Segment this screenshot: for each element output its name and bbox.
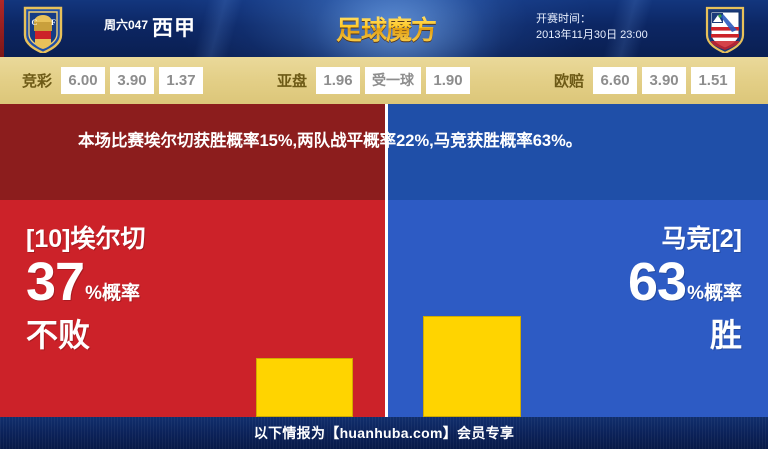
away-outcome-label: 胜 xyxy=(628,316,742,354)
header-bar: C F 周六047西甲 足球魔方 开赛时间： 2013年11月30日 23:00 xyxy=(0,0,768,57)
odds-label-oupei: 欧赔 xyxy=(554,70,584,91)
away-team-block: 马竞[2] 63 %概率 胜 xyxy=(628,224,742,354)
home-percent-value: 37 xyxy=(26,256,84,308)
probability-chart: [10]埃尔切 37 %概率 不败 马竞[2] 63 %概率 胜 xyxy=(0,200,768,417)
odds-oupei-away[interactable]: 1.51 xyxy=(691,67,735,94)
kickoff-label: 开赛时间： xyxy=(536,11,648,27)
odds-yapan-away[interactable]: 1.90 xyxy=(426,67,470,94)
odds-jingcai-draw[interactable]: 3.90 xyxy=(110,67,154,94)
elche-cf-crest-icon: C F xyxy=(22,5,64,53)
bar-home-probability xyxy=(256,358,353,417)
odds-yapan-handicap[interactable]: 受一球 xyxy=(365,67,421,94)
panel-home-team: [10]埃尔切 37 %概率 不败 xyxy=(0,200,385,417)
brand-logo[interactable]: 足球魔方 xyxy=(330,10,442,46)
odds-group-jingcai: 竞彩 6.00 3.90 1.37 xyxy=(22,67,203,94)
home-outcome-label: 不败 xyxy=(26,316,145,354)
odds-jingcai-away[interactable]: 1.37 xyxy=(159,67,203,94)
home-team-name: [10]埃尔切 xyxy=(26,224,145,254)
kickoff-value: 2013年11月30日 23:00 xyxy=(536,27,648,43)
odds-yapan-home[interactable]: 1.96 xyxy=(316,67,360,94)
bar-away-probability xyxy=(423,316,521,417)
svg-text:C: C xyxy=(32,18,38,27)
away-percent-value: 63 xyxy=(628,256,686,308)
odds-oupei-draw[interactable]: 3.90 xyxy=(642,67,686,94)
home-percent-line: 37 %概率 xyxy=(26,256,145,308)
home-team-block: [10]埃尔切 37 %概率 不败 xyxy=(26,224,145,354)
panel-away-team: 马竞[2] 63 %概率 胜 xyxy=(388,200,768,417)
match-meta: 周六047西甲 xyxy=(104,12,196,42)
svg-text:F: F xyxy=(51,18,56,27)
odds-bar: 竞彩 6.00 3.90 1.37 亚盘 1.96 受一球 1.90 欧赔 6.… xyxy=(0,57,768,104)
footer-bar: 以下情报为【huanhuba.com】会员专享 xyxy=(0,417,768,449)
match-round-label: 周六047 xyxy=(104,18,148,32)
footer-notice[interactable]: 以下情报为【huanhuba.com】会员专享 xyxy=(254,423,514,443)
odds-group-oupei: 欧赔 6.60 3.90 1.51 xyxy=(554,67,735,94)
odds-label-jingcai: 竞彩 xyxy=(22,70,52,91)
summary-strip: 本场比赛埃尔切获胜概率15%,两队战平概率22%,马竞获胜概率63%。 xyxy=(0,104,768,200)
away-percent-line: 63 %概率 xyxy=(628,256,742,308)
odds-group-yapan: 亚盘 1.96 受一球 1.90 xyxy=(277,67,470,94)
kickoff-info: 开赛时间： 2013年11月30日 23:00 xyxy=(536,11,648,43)
odds-oupei-home[interactable]: 6.60 xyxy=(593,67,637,94)
odds-label-yapan: 亚盘 xyxy=(277,70,307,91)
home-percent-suffix: %概率 xyxy=(85,284,140,308)
away-percent-suffix: %概率 xyxy=(687,284,742,308)
odds-jingcai-home[interactable]: 6.00 xyxy=(61,67,105,94)
match-league-label: 西甲 xyxy=(152,17,196,40)
atletico-madrid-crest-icon xyxy=(704,5,746,53)
summary-text: 本场比赛埃尔切获胜概率15%,两队战平概率22%,马竞获胜概率63%。 xyxy=(78,126,730,156)
match-prediction-card: C F 周六047西甲 足球魔方 开赛时间： 2013年11月30日 23:00 xyxy=(0,0,768,449)
away-team-name: 马竞[2] xyxy=(628,224,742,254)
